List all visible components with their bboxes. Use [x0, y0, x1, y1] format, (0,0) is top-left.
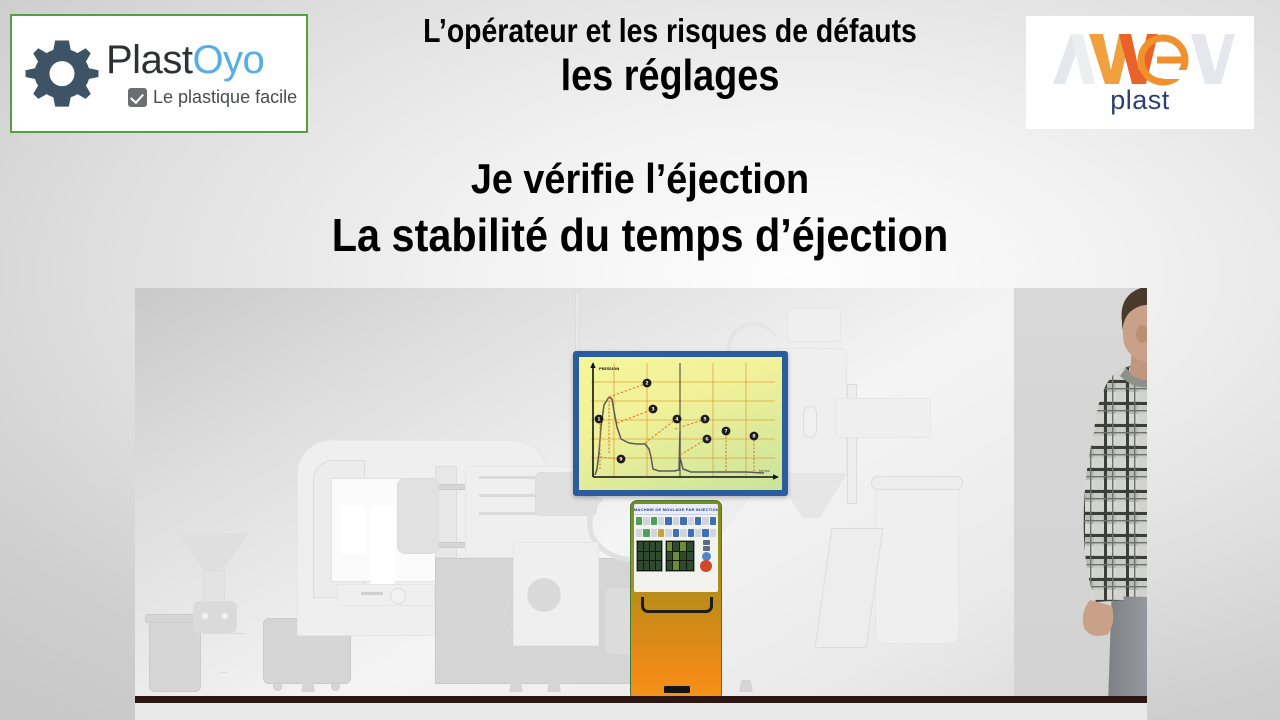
lcd-cell	[644, 561, 649, 570]
console-key-row-1[interactable]	[634, 515, 718, 527]
lcd-cell	[650, 561, 655, 570]
lcd-cell	[656, 552, 661, 561]
console-key[interactable]	[651, 529, 657, 537]
console-tray-opening	[641, 597, 713, 613]
svg-text:4: 4	[675, 417, 678, 423]
stand-support	[815, 528, 884, 648]
hopper-neck	[203, 570, 225, 603]
console-lcd-left[interactable]	[636, 540, 663, 572]
console-key[interactable]	[643, 517, 649, 525]
title-line-2: les réglages	[362, 51, 978, 100]
console-key[interactable]	[710, 529, 716, 537]
lcd-cell	[680, 561, 686, 570]
console-lcd-right[interactable]	[665, 540, 695, 572]
lcd-cell	[638, 542, 643, 551]
hopper-funnel	[177, 533, 249, 571]
console-key[interactable]	[665, 517, 671, 525]
console-key[interactable]	[695, 517, 701, 525]
dryer-sight-glass	[803, 406, 817, 438]
gear-icon	[24, 36, 100, 112]
lcd-cell	[687, 552, 693, 561]
console-aux-column	[697, 540, 716, 572]
part-chute	[203, 633, 245, 673]
awev-word-plast: plast	[1110, 85, 1170, 116]
cabinet-drawer	[337, 584, 435, 606]
waste-bin-icon	[149, 620, 201, 692]
toggle-linkage	[397, 478, 439, 554]
svg-text:7: 7	[724, 429, 727, 435]
lcd-cell	[650, 552, 655, 561]
console-key[interactable]	[665, 529, 671, 537]
pressure-gauge-icon	[390, 588, 406, 604]
console-key[interactable]	[680, 529, 686, 537]
lcd-cell	[680, 552, 686, 561]
console-key[interactable]	[688, 529, 694, 537]
lcd-cell	[656, 542, 661, 551]
svg-text:PRESSION: PRESSION	[599, 367, 619, 371]
console-panel-title: MACHINE DE MOULAGE PAR INJECTION	[634, 507, 718, 512]
console-panel-header: MACHINE DE MOULAGE PAR INJECTION	[634, 504, 718, 515]
console-key[interactable]	[702, 517, 708, 525]
lcd-cell	[673, 542, 679, 551]
console-key[interactable]	[673, 529, 679, 537]
console-keypad-panel[interactable]: MACHINE DE MOULAGE PAR INJECTION	[634, 504, 718, 592]
lcd-cell	[644, 542, 649, 551]
svg-text:3: 3	[651, 407, 654, 413]
awev-mark-icon	[1045, 30, 1235, 88]
svg-text:9: 9	[619, 457, 622, 463]
cart-wheel-right	[331, 682, 340, 691]
console-key[interactable]	[636, 529, 642, 537]
cabinet-drawer-handle	[361, 592, 383, 595]
loader-head	[787, 308, 841, 342]
process-monitor[interactable]: PRESSION temps	[573, 351, 788, 496]
floor-area	[135, 703, 1147, 720]
console-key[interactable]	[651, 517, 657, 525]
granulator-unit	[193, 601, 237, 633]
svg-text:1: 1	[597, 417, 600, 423]
lcd-cell	[650, 542, 655, 551]
console-key[interactable]	[658, 529, 664, 537]
console-key[interactable]	[673, 517, 679, 525]
lcd-cell	[673, 561, 679, 570]
plastoyo-logo: PlastOyo Le plastique facile	[10, 14, 308, 133]
console-key[interactable]	[695, 529, 701, 537]
page-title: L’opérateur et les risques de défauts le…	[312, 12, 1028, 100]
console-key[interactable]	[702, 529, 708, 537]
lcd-cell	[667, 542, 673, 551]
logo-tagline-row: Le plastique facile	[128, 87, 297, 108]
console-key[interactable]	[658, 517, 664, 525]
console-foot	[664, 686, 690, 693]
granulator-port-left	[201, 612, 209, 620]
cabinet-label-qualite: QUALITE	[340, 378, 394, 388]
console-indicator	[703, 546, 710, 551]
subtitle-block: Je vérifie l’éjection La stabilité du te…	[0, 152, 1280, 266]
console-key[interactable]	[636, 517, 642, 525]
operator-pictogram-body-icon	[700, 560, 712, 572]
lcd-cell	[644, 552, 649, 561]
pressure-time-chart: PRESSION temps	[579, 357, 782, 490]
console-key[interactable]	[710, 517, 716, 525]
console-key[interactable]	[680, 517, 686, 525]
drum-rim	[871, 476, 963, 490]
cabinet-screen-mid	[371, 506, 395, 584]
lcd-cell	[687, 561, 693, 570]
operator-photo	[1050, 288, 1147, 706]
floor-line	[135, 696, 1147, 703]
console-display-row	[634, 539, 718, 574]
signal-pole	[575, 292, 580, 358]
svg-text:2: 2	[645, 381, 648, 387]
lcd-cell	[667, 561, 673, 570]
lcd-cell	[687, 542, 693, 551]
svg-text:6: 6	[705, 437, 708, 443]
lcd-cell	[656, 561, 661, 570]
console-key[interactable]	[643, 529, 649, 537]
slide-canvas: PlastOyo Le plastique facile	[0, 0, 1280, 720]
operator-console[interactable]: MACHINE DE MOULAGE PAR INJECTION	[630, 500, 722, 697]
console-indicator	[703, 540, 710, 545]
granulator-port-right	[221, 612, 229, 620]
title-line-1: L’opérateur et les risques de défauts	[362, 12, 978, 51]
pallet-stack	[835, 398, 931, 438]
logo-word-oyo: Oyo	[192, 38, 264, 82]
lcd-cell	[673, 552, 679, 561]
machine-foot-4	[739, 680, 753, 692]
cabinet-screen-left	[341, 506, 365, 554]
logo-word-plast: Plast	[106, 38, 192, 82]
storage-drum	[875, 482, 959, 644]
cart-wheel-left	[273, 682, 282, 691]
console-key-row-2[interactable]	[634, 527, 718, 539]
awev-plast-logo: plast	[1026, 16, 1254, 129]
logo-tagline: Le plastique facile	[153, 87, 297, 108]
monitor-screen: PRESSION temps	[579, 357, 782, 490]
svg-text:5: 5	[703, 417, 706, 423]
lcd-cell	[638, 561, 643, 570]
lcd-cell	[680, 542, 686, 551]
lcd-cell	[667, 552, 673, 561]
plastoyo-wordmark: PlastOyo Le plastique facile	[106, 40, 297, 108]
console-key[interactable]	[688, 517, 694, 525]
machine-illustration: QUALITE	[135, 288, 1147, 720]
subtitle-line-2: La stabilité du temps d’éjection	[64, 206, 1216, 266]
lcd-cell	[638, 552, 643, 561]
side-cabinet-port	[527, 578, 561, 612]
checkbox-checked-icon	[128, 88, 147, 107]
svg-text:8: 8	[752, 434, 755, 440]
subtitle-line-1: Je vérifie l’éjection	[64, 152, 1216, 206]
